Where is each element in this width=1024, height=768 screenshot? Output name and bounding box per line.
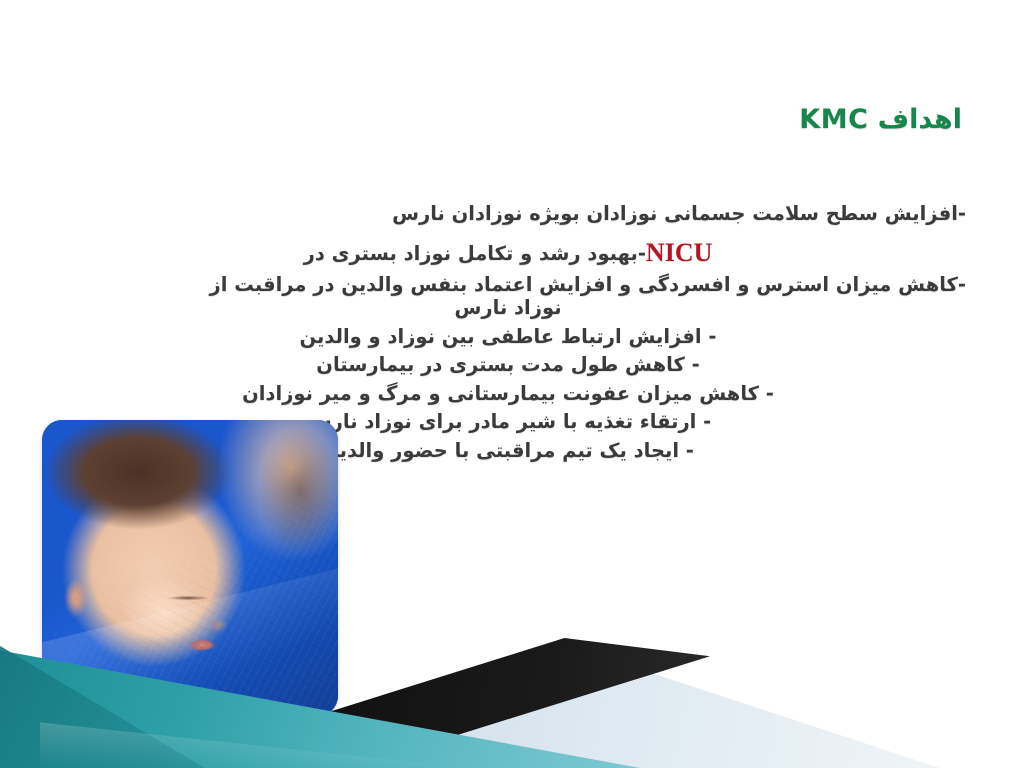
bullet-item-4: - افزایش ارتباط عاطفی بین نوزاد و والدین <box>50 327 970 347</box>
page-title: اهداف KMC <box>402 104 962 135</box>
bullet-item-3-text: -کاهش میزان استرس و افسردگی و افزایش اعت… <box>210 273 966 296</box>
bullet-item-3: -کاهش میزان استرس و افسردگی و افزایش اعت… <box>50 275 970 318</box>
bullet-item-5: - کاهش طول مدت بستری در بیمارستان <box>50 355 970 375</box>
nicu-label: NICU <box>646 240 712 266</box>
bullet-item-3-tail: نوزاد نارس <box>50 298 966 318</box>
bullet-item-6: - کاهش میزان عفونت بیمارستانی و مرگ و می… <box>50 384 970 404</box>
bullet-item-2: NICU-بهبود رشد و تکامل نوزاد بستری در <box>50 240 970 266</box>
bullet-item-2-text: -بهبود رشد و تکامل نوزاد بستری در <box>304 242 646 265</box>
slide-canvas: اهداف KMC -افزایش سطح سلامت جسمانی نوزاد… <box>0 0 1024 768</box>
bullet-item-1: -افزایش سطح سلامت جسمانی نوزادان بویژه ن… <box>50 204 970 224</box>
